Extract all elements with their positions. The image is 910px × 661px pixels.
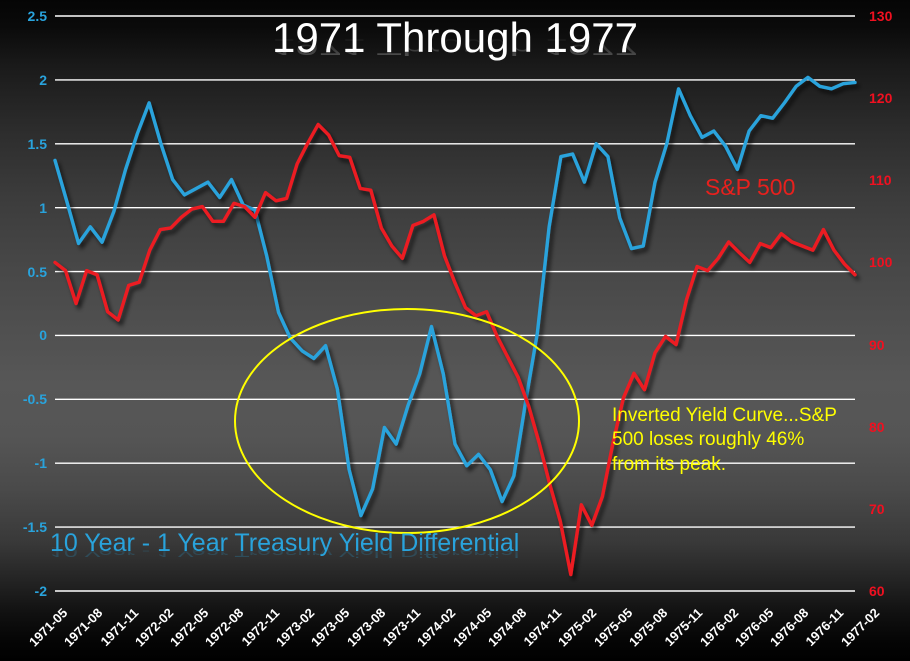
left-axis-tick-label: -1.5 <box>23 520 47 534</box>
left-axis-tick-label: 0.5 <box>28 265 47 279</box>
left-axis-tick-label: -1 <box>35 456 47 470</box>
right-axis-tick-label: 60 <box>869 584 885 598</box>
right-axis-tick-label: 110 <box>869 173 892 187</box>
inverted-yield-curve-annotation: Inverted Yield Curve...S&P 500 loses rou… <box>612 404 837 477</box>
chart-plot-area <box>0 0 910 661</box>
highlight-ellipse <box>235 309 579 533</box>
left-axis-tick-label: 1.5 <box>28 137 47 151</box>
right-axis-tick-label: 120 <box>869 91 892 105</box>
left-axis-tick-label: 2.5 <box>28 9 47 23</box>
left-axis-tick-label: -2 <box>35 584 47 598</box>
right-axis-tick-label: 70 <box>869 502 885 516</box>
right-axis-tick-label: 90 <box>869 338 885 352</box>
red-series-label: S&P 500 <box>705 174 795 201</box>
right-axis-tick-label: 100 <box>869 255 892 269</box>
right-axis-tick-label: 80 <box>869 420 885 434</box>
page-title: 1971 Through 1977 <box>0 14 910 62</box>
series-lines <box>55 77 855 574</box>
left-axis-tick-label: 2 <box>39 73 47 87</box>
left-axis-tick-label: 0 <box>39 328 47 342</box>
gridlines <box>55 16 855 591</box>
right-axis-tick-label: 130 <box>869 9 892 23</box>
left-axis-tick-label: -0.5 <box>23 392 47 406</box>
blue-series-label: 10 Year - 1 Year Treasury Yield Differen… <box>50 529 519 558</box>
left-axis-tick-label: 1 <box>39 201 47 215</box>
chart-screenshot: 1971 Through 1977 1971 Through 1977 10 Y… <box>0 0 910 661</box>
